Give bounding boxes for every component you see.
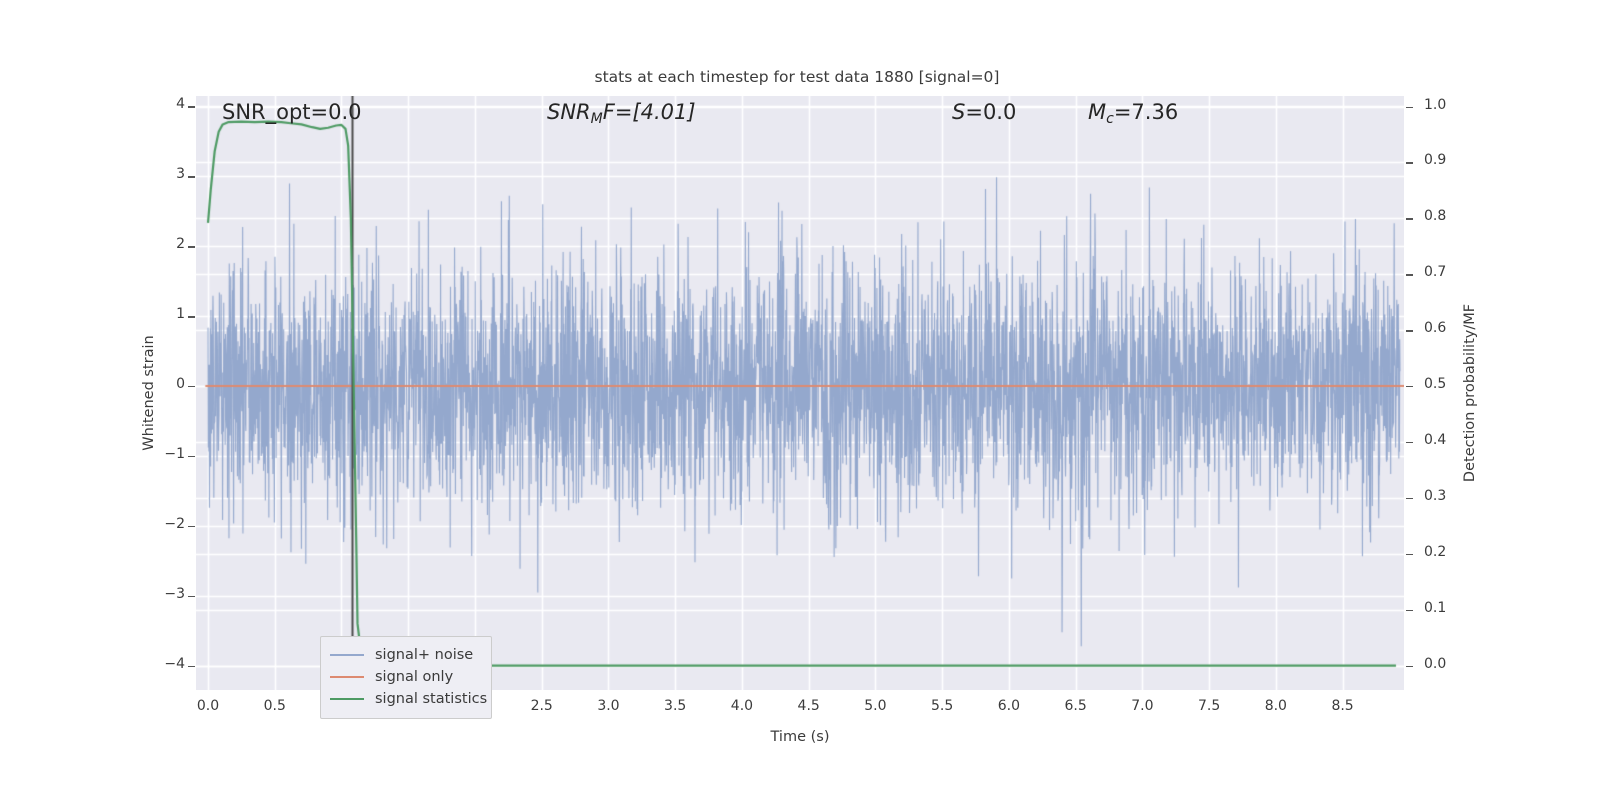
y-tickmark-right-8 (1406, 554, 1413, 555)
y-tick-left-7: −3 (164, 586, 185, 602)
legend-item-signal-statistics[interactable]: signal statistics (330, 688, 482, 710)
y-tickmark-right-7 (1406, 498, 1413, 499)
y-tickmark-right-10 (1406, 666, 1413, 667)
legend-item-signal-noise[interactable]: signal+ noise (330, 644, 482, 666)
y-tick-right-6: 0.4 (1424, 432, 1446, 448)
y-tickmark-left-5 (188, 456, 195, 457)
y-tick-right-5: 0.5 (1424, 376, 1446, 392)
annotation-mc-tail: =7.36 (1114, 100, 1178, 124)
legend-label-signal-noise: signal+ noise (375, 647, 473, 663)
annotation-snr-mf-main: SNR (547, 100, 591, 124)
legend-swatch-signal-statistics (330, 698, 364, 700)
y-tickmark-left-3 (188, 316, 195, 317)
x-tick-17: 8.5 (1303, 698, 1383, 714)
plot-area (196, 96, 1404, 690)
annotation-snr-opt: SNR_opt=0.0 (222, 100, 362, 124)
y-tick-left-6: −2 (164, 516, 185, 532)
y-tick-left-8: −4 (164, 656, 185, 672)
y-tick-right-2: 0.8 (1424, 208, 1446, 224)
chart-title: stats at each timestep for test data 188… (0, 68, 1600, 86)
figure-canvas: stats at each timestep for test data 188… (0, 0, 1600, 800)
y-tickmark-left-2 (188, 246, 195, 247)
y-tick-left-3: 1 (176, 306, 185, 322)
y-tickmark-right-6 (1406, 442, 1413, 443)
y-tickmark-left-4 (188, 386, 195, 387)
y-tickmark-right-4 (1406, 330, 1413, 331)
y-tick-right-8: 0.2 (1424, 544, 1446, 560)
y-tick-left-5: −1 (164, 446, 185, 462)
annotation-snr-mf-sub: M (591, 111, 603, 127)
y-tick-left-1: 3 (176, 166, 185, 182)
y-tick-left-2: 2 (176, 236, 185, 252)
annotation-s: S=0.0 (952, 100, 1016, 124)
y-tick-right-0: 1.0 (1424, 97, 1446, 113)
y-tickmark-right-5 (1406, 386, 1413, 387)
plot-canvas (196, 96, 1404, 690)
annotation-s-main: S (952, 100, 965, 124)
annotation-mc-sub: c (1106, 111, 1114, 127)
y-tickmark-right-3 (1406, 274, 1413, 275)
y-axis-left-label: Whitened strain (141, 243, 157, 543)
y-tick-right-1: 0.9 (1424, 152, 1446, 168)
annotation-mc-main: M (1088, 100, 1106, 124)
legend-swatch-signal-only (330, 676, 364, 678)
y-tickmark-right-9 (1406, 610, 1413, 611)
chart-title-text: stats at each timestep for test data 188… (595, 68, 1000, 86)
y-axis-right-label: Detection probability/MF (1462, 243, 1478, 543)
y-tick-right-7: 0.3 (1424, 488, 1446, 504)
y-tickmark-right-1 (1406, 162, 1413, 163)
legend-swatch-signal-noise (330, 654, 364, 656)
legend-item-signal-only[interactable]: signal only (330, 666, 482, 688)
y-tick-right-10: 0.0 (1424, 656, 1446, 672)
y-tickmark-right-0 (1406, 107, 1413, 108)
annotation-mc: Mc=7.36 (1088, 100, 1178, 127)
y-tick-right-3: 0.7 (1424, 264, 1446, 280)
annotation-s-tail: =0.0 (965, 100, 1016, 124)
x-axis-label: Time (s) (196, 729, 1404, 745)
annotation-snr-mf-tail: F=[4.01] (603, 100, 696, 124)
y-tickmark-left-0 (188, 106, 195, 107)
legend-label-signal-statistics: signal statistics (375, 691, 487, 707)
y-tickmark-right-2 (1406, 218, 1413, 219)
y-tickmark-left-1 (188, 176, 195, 177)
annotation-snr-mf: SNRMF=[4.01] (547, 100, 696, 127)
y-tick-right-4: 0.6 (1424, 320, 1446, 336)
y-tick-left-0: 4 (176, 96, 185, 112)
y-tickmark-left-6 (188, 526, 195, 527)
y-tickmark-left-7 (188, 596, 195, 597)
legend[interactable]: signal+ noise signal only signal statist… (320, 636, 492, 719)
legend-label-signal-only: signal only (375, 669, 453, 685)
y-tick-left-4: 0 (176, 376, 185, 392)
y-tickmark-left-8 (188, 666, 195, 667)
y-tick-right-9: 0.1 (1424, 600, 1446, 616)
